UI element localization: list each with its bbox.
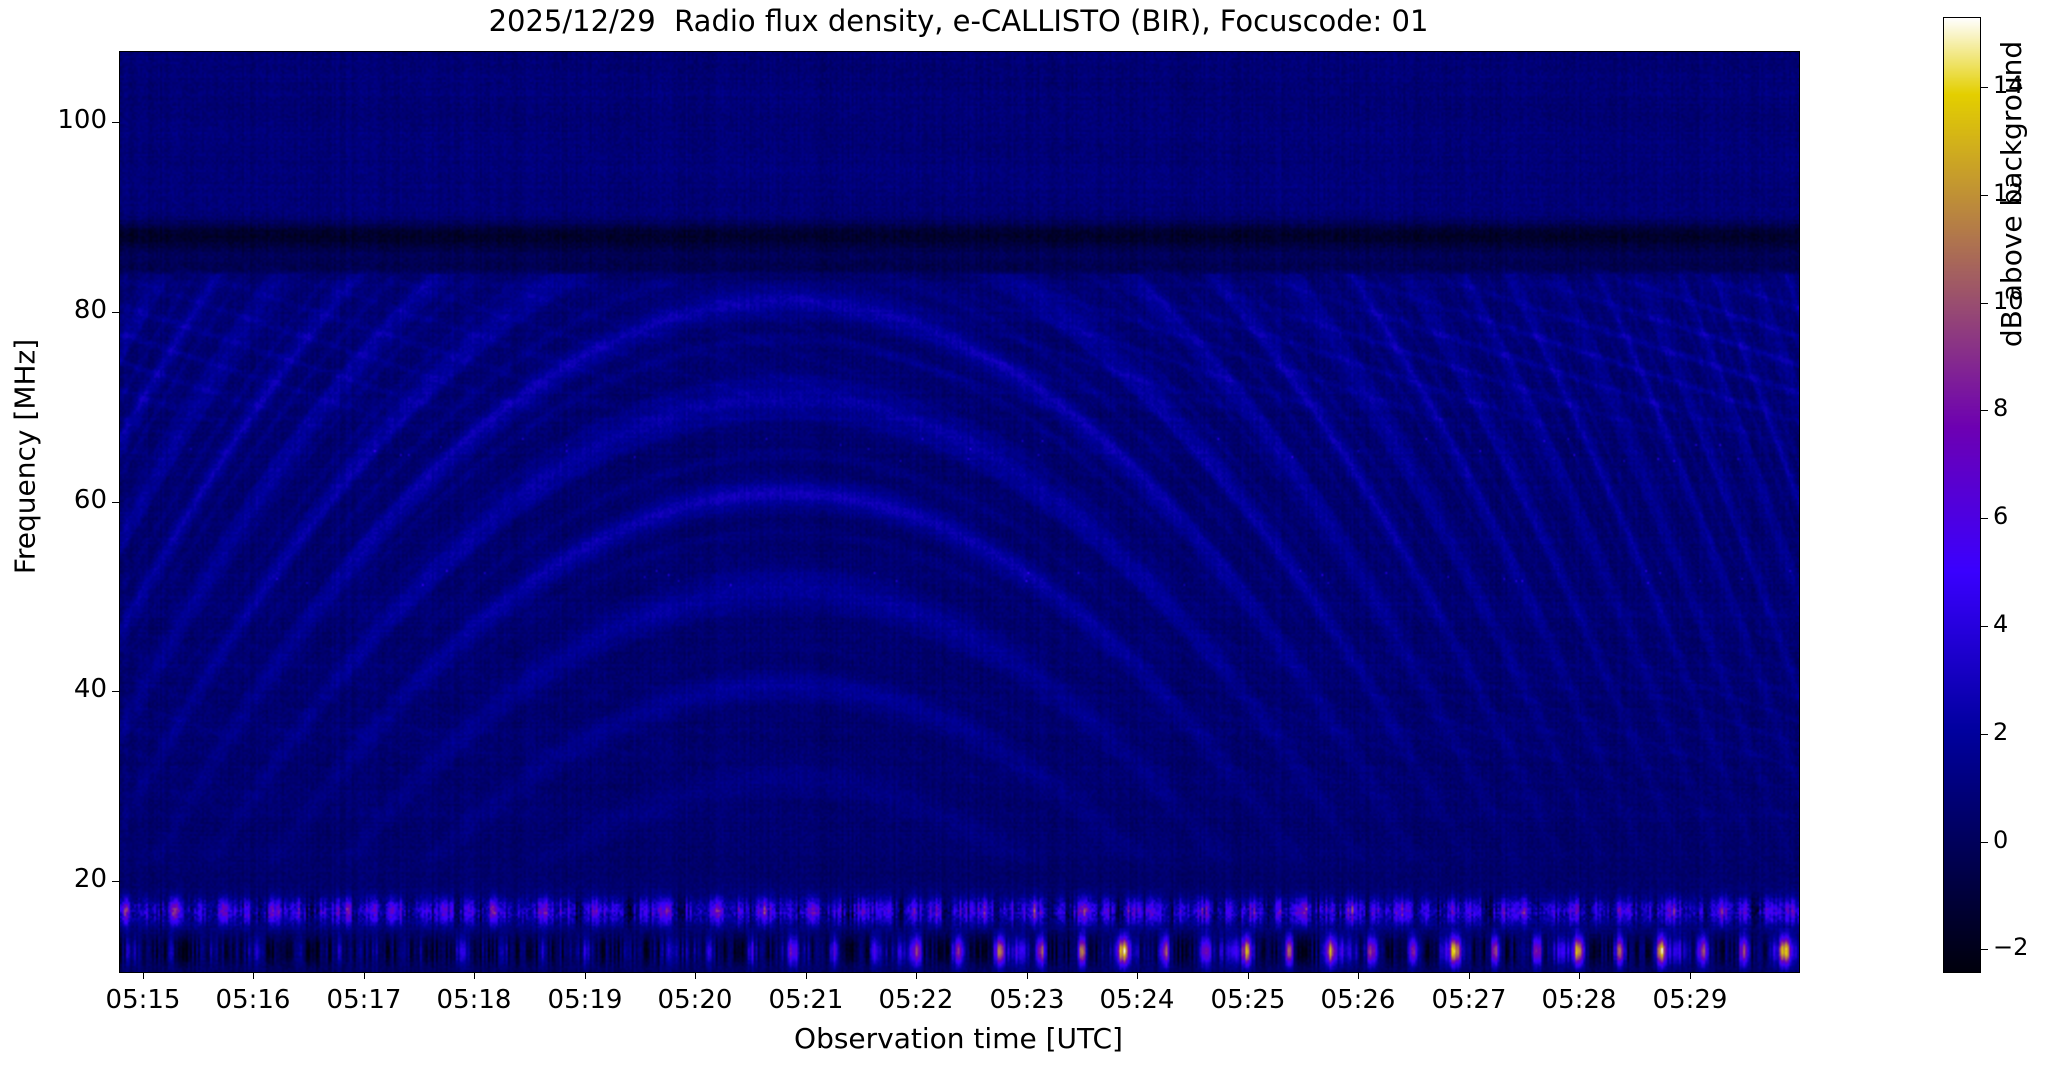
- x-tick-label: 05:29: [1610, 985, 1770, 1015]
- colorbar-tick-label: 2: [1993, 718, 2008, 746]
- x-tick-mark: [806, 972, 807, 979]
- y-tick-mark: [112, 881, 119, 882]
- x-tick-mark: [1137, 972, 1138, 979]
- x-tick-mark: [143, 972, 144, 979]
- colorbar-tick-label: 6: [1993, 502, 2008, 530]
- x-tick-mark: [1358, 972, 1359, 979]
- y-tick-mark: [112, 122, 119, 123]
- x-tick-mark: [1248, 972, 1249, 979]
- x-axis-label: Observation time [UTC]: [119, 1022, 1798, 1055]
- figure-canvas: 2025/12/29 Radio flux density, e-CALLIST…: [0, 0, 2066, 1067]
- spectrogram-axes[interactable]: [119, 51, 1800, 973]
- colorbar-tick-label: −2: [1993, 933, 2028, 961]
- x-tick-mark: [585, 972, 586, 979]
- spectrogram-image: [120, 52, 1799, 972]
- colorbar-tick-label: 10: [1993, 287, 2024, 315]
- y-tick-label: 20: [0, 864, 107, 894]
- y-tick-mark: [112, 312, 119, 313]
- x-tick-mark: [695, 972, 696, 979]
- x-tick-mark: [916, 972, 917, 979]
- x-tick-mark: [1027, 972, 1028, 979]
- y-tick-label: 80: [0, 295, 107, 325]
- colorbar-gradient: [1944, 18, 1980, 972]
- y-tick-mark: [112, 502, 119, 503]
- y-tick-mark: [112, 691, 119, 692]
- colorbar-tick-label: 8: [1993, 394, 2008, 422]
- y-tick-label: 60: [0, 485, 107, 515]
- colorbar-tick-label: 14: [1993, 71, 2024, 99]
- colorbar-tick-label: 4: [1993, 610, 2008, 638]
- colorbar-tick-mark: [1981, 87, 1988, 88]
- x-tick-mark: [1579, 972, 1580, 979]
- y-tick-label: 100: [0, 105, 107, 135]
- colorbar-tick-mark: [1981, 949, 1988, 950]
- colorbar-tick-mark: [1981, 195, 1988, 196]
- colorbar-tick-mark: [1981, 734, 1988, 735]
- colorbar-tick-mark: [1981, 842, 1988, 843]
- colorbar-tick-label: 12: [1993, 179, 2024, 207]
- colorbar-tick-mark: [1981, 303, 1988, 304]
- colorbar-axes[interactable]: [1943, 17, 1981, 973]
- plot-title: 2025/12/29 Radio flux density, e-CALLIST…: [119, 4, 1798, 38]
- colorbar-tick-mark: [1981, 626, 1988, 627]
- x-tick-mark: [364, 972, 365, 979]
- x-tick-mark: [474, 972, 475, 979]
- colorbar-tick-mark: [1981, 410, 1988, 411]
- y-tick-label: 40: [0, 674, 107, 704]
- x-tick-mark: [253, 972, 254, 979]
- x-tick-mark: [1469, 972, 1470, 979]
- colorbar-tick-label: 0: [1993, 826, 2008, 854]
- x-tick-mark: [1690, 972, 1691, 979]
- colorbar-tick-mark: [1981, 518, 1988, 519]
